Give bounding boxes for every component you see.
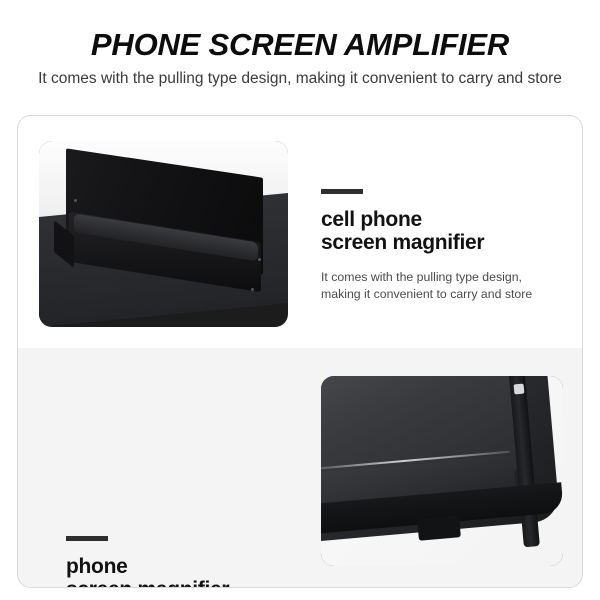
magnifier-frame-closeup-photo	[321, 376, 563, 566]
stand-hinge-screw-left	[74, 199, 77, 202]
folded-amplifier-stand-photo	[39, 141, 288, 327]
page-subtitle: It comes with the pulling type design, m…	[0, 69, 600, 89]
feature-panel-top: cell phone screen magnifier It comes wit…	[18, 116, 582, 348]
page-header: PHONE SCREEN AMPLIFIER It comes with the…	[0, 0, 600, 112]
content-card: cell phone screen magnifier It comes wit…	[17, 115, 583, 588]
feature-description-top: It comes with the pulling type design, m…	[321, 269, 549, 303]
feature-title-top: cell phone screen magnifier	[321, 208, 549, 254]
magnifier-support-tab	[417, 515, 461, 541]
feature-panel-bottom: phone screen magnifier The rack is made …	[18, 348, 582, 588]
feature-title-bottom: phone screen magnifier	[66, 555, 302, 588]
page-title: PHONE SCREEN AMPLIFIER	[0, 26, 600, 64]
feature-title-bottom-line-1: phone	[66, 555, 302, 578]
feature-title-top-line-1: cell phone	[321, 208, 549, 231]
magnifier-corner-notch	[514, 383, 525, 394]
stand-hinge-screw-lower	[251, 288, 254, 291]
accent-dash-icon	[66, 536, 108, 541]
accent-dash-icon	[321, 189, 363, 194]
feature-text-top: cell phone screen magnifier It comes wit…	[321, 189, 549, 303]
feature-title-top-line-2: screen magnifier	[321, 231, 549, 254]
feature-title-bottom-line-2: screen magnifier	[66, 578, 302, 588]
feature-text-bottom: phone screen magnifier The rack is made …	[66, 536, 302, 588]
